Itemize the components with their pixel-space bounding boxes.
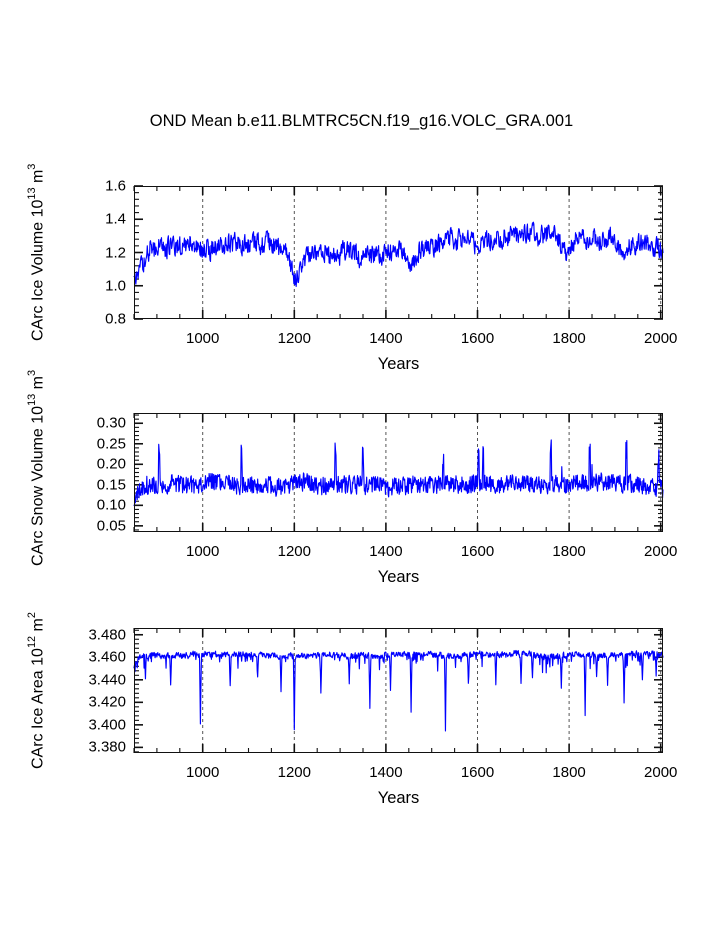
y-axis-label: CArc Ice Area 1012 m2	[26, 594, 47, 787]
y-tick-label: 3.440	[38, 671, 126, 688]
y-tick-label: 3.460	[38, 649, 126, 666]
y-tick-label: 3.400	[38, 716, 126, 733]
figure-canvas: OND Mean b.e11.BLMTRC5CN.f19_g16.VOLC_GR…	[0, 0, 723, 935]
plot-frame	[134, 628, 663, 753]
y-tick-label: 3.420	[38, 694, 126, 711]
x-tick-label: 1000	[186, 764, 219, 781]
x-tick-label: 1600	[461, 764, 494, 781]
x-axis-label: Years	[134, 789, 663, 808]
y-tick-label: 3.380	[38, 739, 126, 756]
x-tick-label: 1800	[552, 764, 585, 781]
x-tick-label: 2000	[644, 764, 677, 781]
x-tick-label: 1200	[278, 764, 311, 781]
y-tick-label: 3.480	[38, 626, 126, 643]
x-tick-label: 1400	[369, 764, 402, 781]
